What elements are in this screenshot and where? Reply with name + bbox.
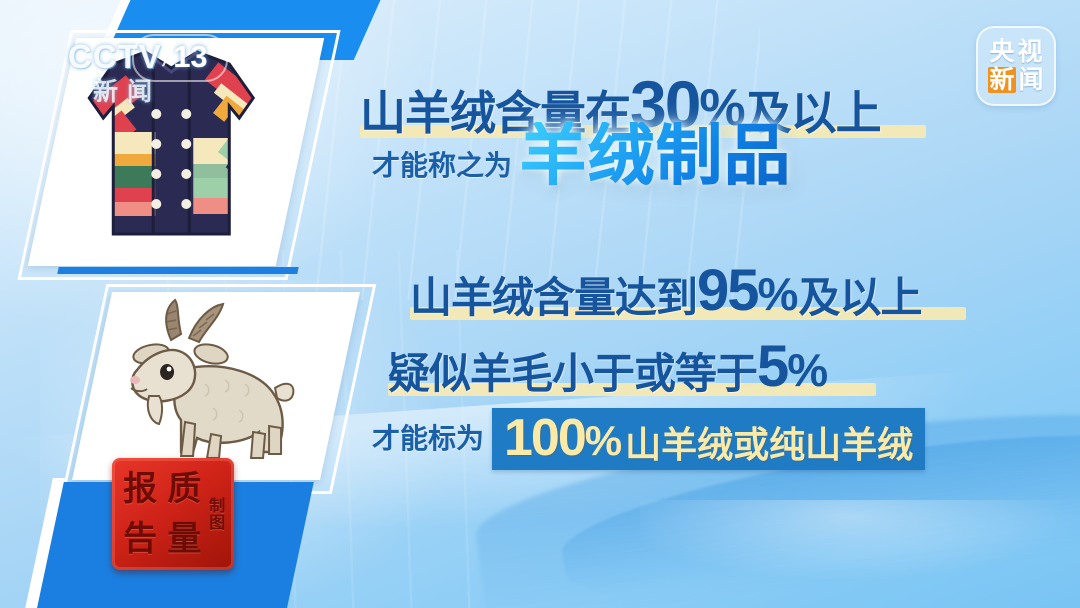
- broadcast-graphic-frame: 报 质 制 图 告 量 CCTV / 13 新闻 央 视 新 闻: [0, 0, 1080, 608]
- news-logo-char-yang: 央: [989, 39, 1014, 65]
- cctv-news-logo: 央 视 新 闻: [976, 26, 1056, 106]
- seal-char-liang: 量: [163, 515, 205, 563]
- seal-char-zhi: 质: [163, 465, 205, 513]
- headline-100-cashmere: 才能标为 100 % 山羊绒或纯山羊绒: [372, 408, 925, 470]
- cashmere-goat-illustration: [93, 292, 321, 470]
- banner-text: 山羊绒或纯山羊绒: [625, 427, 913, 463]
- news-logo-char-shi: 视: [1018, 39, 1043, 65]
- cashmere-100-banner: 100 % 山羊绒或纯山羊绒: [492, 408, 925, 470]
- headline-text-block: 山羊绒含量在 30 % 及以上 才能称之为 羊绒制品 山羊绒含量达到 95 % …: [350, 60, 1050, 480]
- goat-card: [72, 292, 360, 480]
- rule-5-number: 5: [757, 333, 787, 400]
- quality-report-seal: 报 质 制 图 告 量: [112, 458, 234, 570]
- rule-95-number: 95: [697, 257, 758, 324]
- headline-rule-5: 疑似羊毛小于或等于 5 %: [388, 328, 828, 395]
- seal-char-tu: 图: [209, 515, 225, 531]
- cashmere-product-accent: 羊绒制品: [520, 122, 792, 188]
- cctv-13-logo: CCTV / 13 新闻: [68, 38, 208, 108]
- rule-95-percent: %: [758, 267, 799, 321]
- sweater-card-underbar: [57, 267, 298, 274]
- seal-char-bao: 报: [119, 465, 161, 513]
- cctv-oval-outline: [132, 34, 228, 82]
- seal-char-zhi2: 制: [209, 498, 225, 514]
- news-logo-row-2: 新 闻: [988, 67, 1043, 93]
- headline-rule-95: 山羊绒含量达到 95 % 及以上: [410, 252, 921, 319]
- label-100-lead: 才能标为: [372, 425, 484, 453]
- seal-side-chars: 制 图: [208, 465, 227, 563]
- news-logo-char-wen: 闻: [1019, 67, 1044, 93]
- rule-95-suffix: 及以上: [798, 277, 921, 319]
- news-logo-row-1: 央 视: [989, 39, 1042, 65]
- rule-95-prefix: 山羊绒含量达到: [410, 277, 697, 319]
- rule-5-prefix: 疑似羊毛小于或等于: [388, 353, 757, 395]
- seal-char-gao: 告: [119, 515, 161, 563]
- banner-percent: %: [585, 420, 622, 462]
- rule-5-percent: %: [787, 343, 828, 397]
- background-wave-sheen: [640, 500, 1080, 608]
- banner-number: 100: [504, 412, 585, 464]
- cashmere-product-lead: 才能称之为: [372, 152, 512, 180]
- news-logo-char-xin: 新: [988, 67, 1015, 93]
